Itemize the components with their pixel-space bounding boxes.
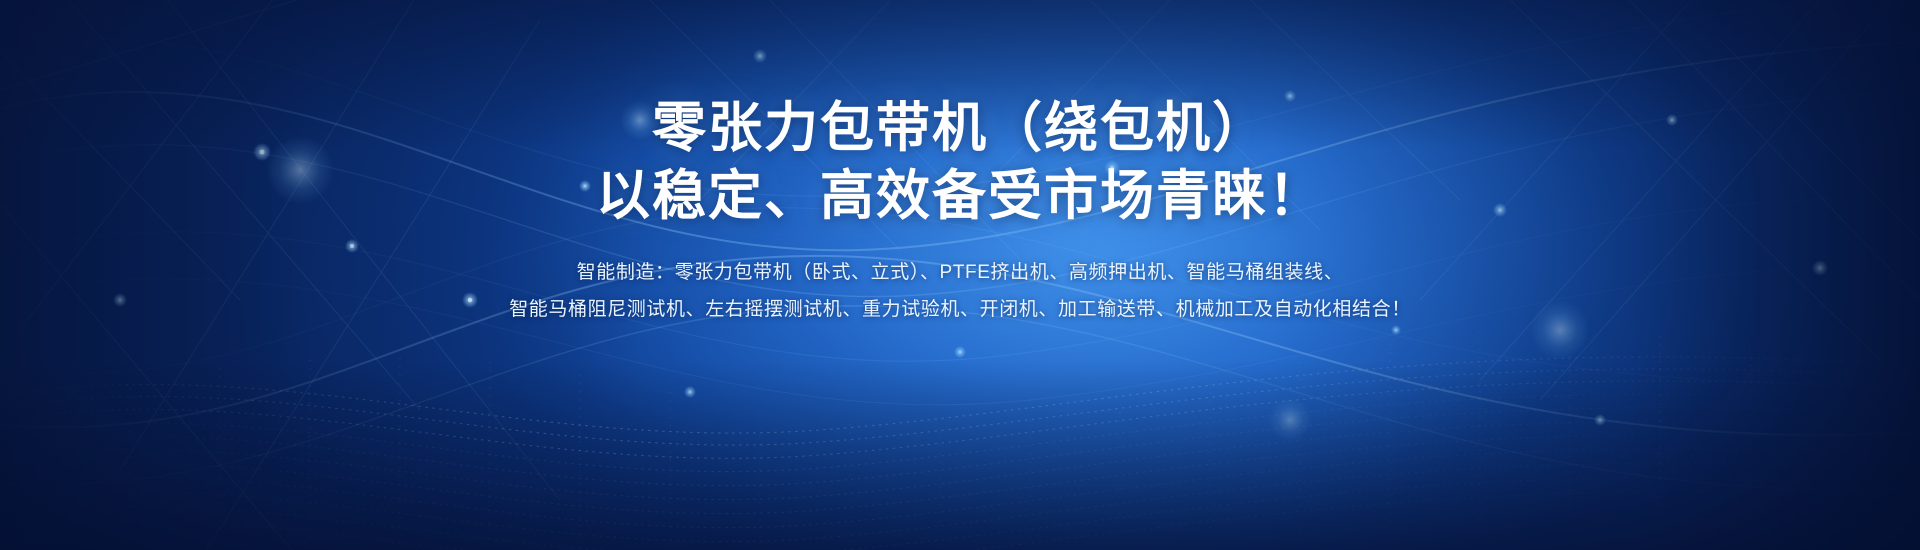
banner-subtitle-line-1: 智能制造：零张力包带机（卧式、立式）、PTFE挤出机、高频押出机、智能马桶组装线…	[509, 254, 1411, 291]
banner-subtitle-line-2: 智能马桶阻尼测试机、左右摇摆测试机、重力试验机、开闭机、加工输送带、机械加工及自…	[509, 291, 1411, 328]
banner-title-line-1: 零张力包带机（绕包机）	[652, 96, 1268, 160]
banner-title-line-2: 以稳定、高效备受市场青睐！	[596, 164, 1324, 228]
banner-content: 零张力包带机（绕包机） 以稳定、高效备受市场青睐！ 智能制造：零张力包带机（卧式…	[0, 0, 1920, 550]
hero-banner: 零张力包带机（绕包机） 以稳定、高效备受市场青睐！ 智能制造：零张力包带机（卧式…	[0, 0, 1920, 550]
banner-subtitle: 智能制造：零张力包带机（卧式、立式）、PTFE挤出机、高频押出机、智能马桶组装线…	[509, 254, 1411, 328]
